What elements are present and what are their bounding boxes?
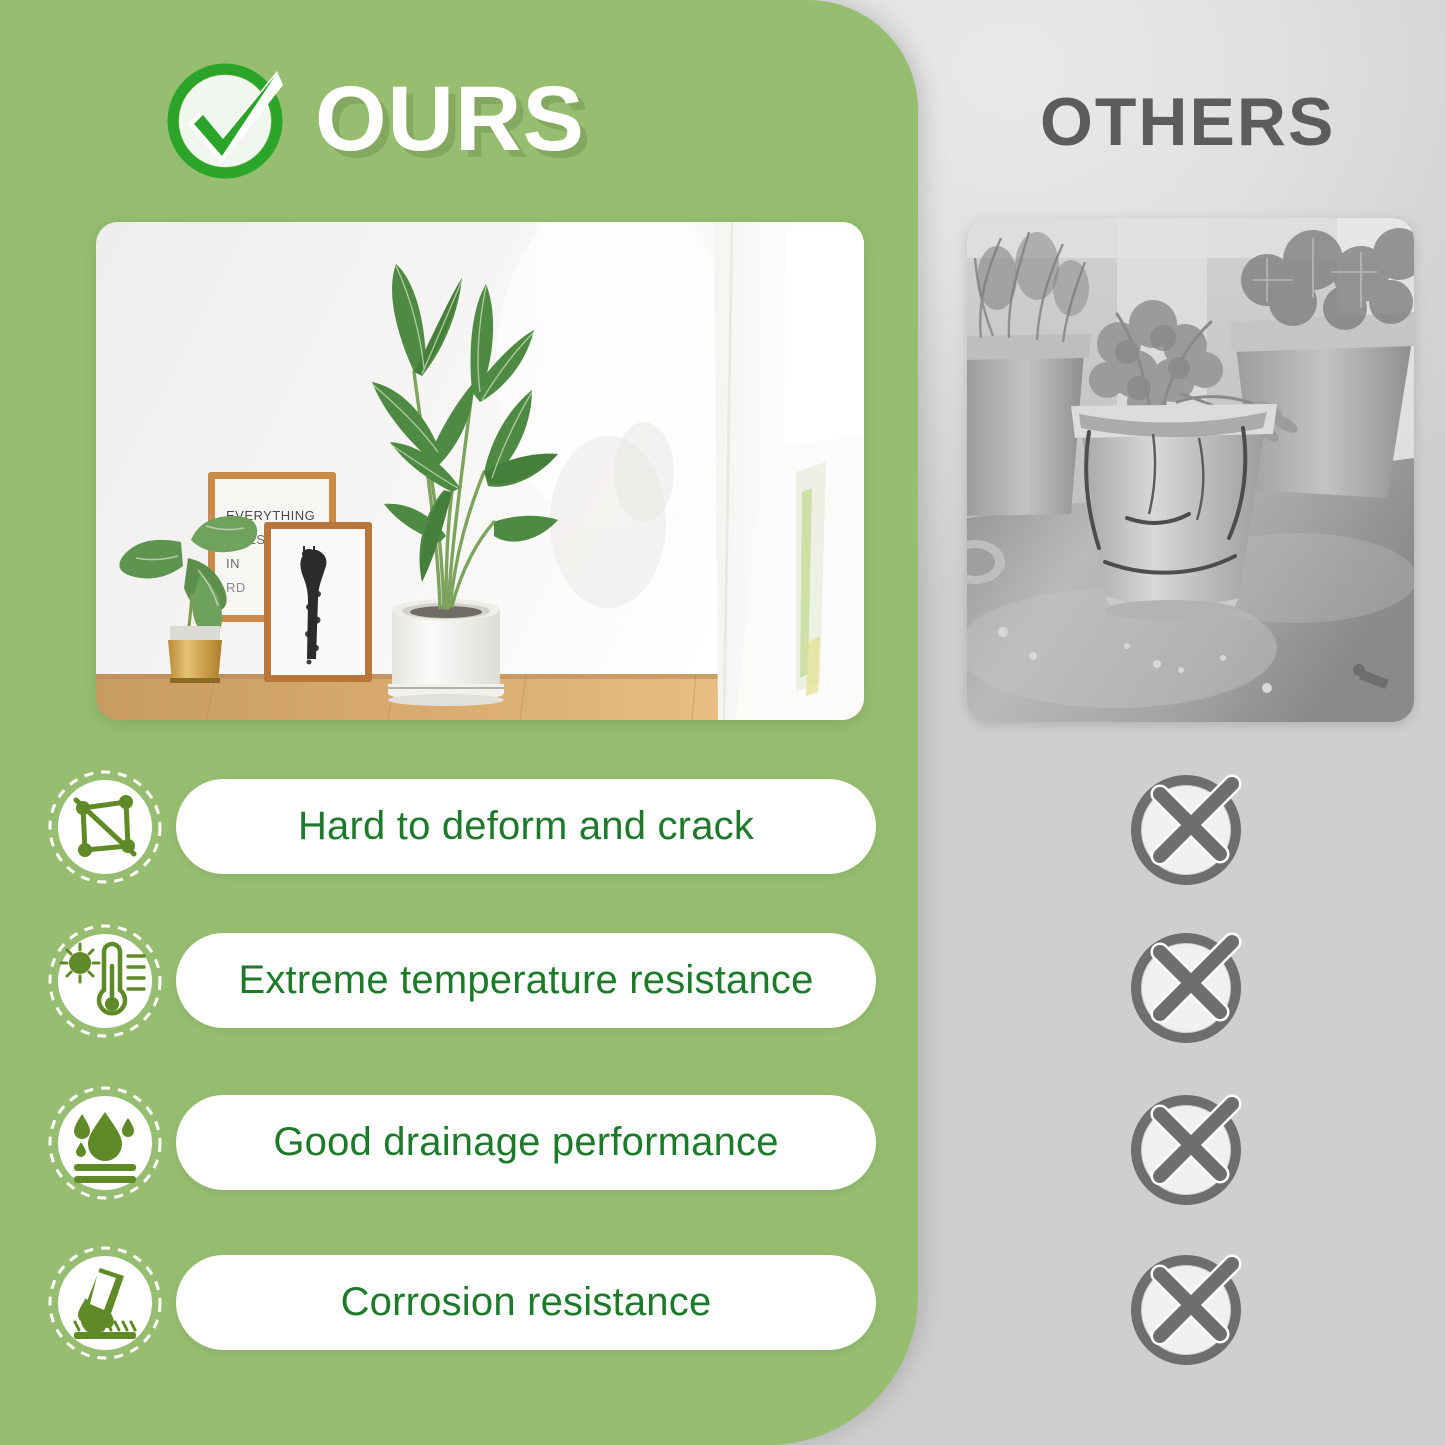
feature-row: Corrosion resistance	[0, 1244, 918, 1362]
gray-x-badge-icon	[1128, 1084, 1254, 1210]
feature-label: Hard to deform and crack	[298, 804, 754, 849]
corrosion-beaker-icon	[46, 1244, 164, 1362]
gray-x-badge-icon	[1128, 1244, 1254, 1370]
ours-product-photo: EVERYTHING GOES WELL IN RD	[96, 222, 864, 720]
others-product-photo	[967, 218, 1414, 722]
green-check-badge-icon	[165, 55, 293, 183]
page-title-ours: OURS	[315, 73, 585, 165]
thermometer-sun-icon	[46, 922, 164, 1040]
water-drainage-icon	[46, 1084, 164, 1202]
feature-row: Hard to deform and crack	[0, 768, 918, 886]
ours-panel	[0, 0, 918, 1445]
feature-row: Extreme temperature resistance	[0, 922, 918, 1040]
feature-label: Corrosion resistance	[341, 1280, 712, 1325]
svg-text:RD: RD	[226, 580, 246, 595]
no-deform-icon	[46, 768, 164, 886]
feature-pill[interactable]: Good drainage performance	[176, 1095, 876, 1190]
feature-label: Good drainage performance	[273, 1120, 778, 1165]
page-title-others: OTHERS	[1040, 88, 1335, 156]
svg-text:IN: IN	[226, 556, 240, 571]
feature-pill[interactable]: Extreme temperature resistance	[176, 933, 876, 1028]
feature-label: Extreme temperature resistance	[238, 958, 813, 1003]
gray-x-badge-icon	[1128, 764, 1254, 890]
ours-header: OURS	[165, 55, 585, 183]
feature-row: Good drainage performance	[0, 1084, 918, 1202]
gray-x-badge-icon	[1128, 922, 1254, 1048]
comparison-infographic: OURS OTHERS	[0, 0, 1445, 1445]
feature-pill[interactable]: Hard to deform and crack	[176, 779, 876, 874]
feature-pill[interactable]: Corrosion resistance	[176, 1255, 876, 1350]
